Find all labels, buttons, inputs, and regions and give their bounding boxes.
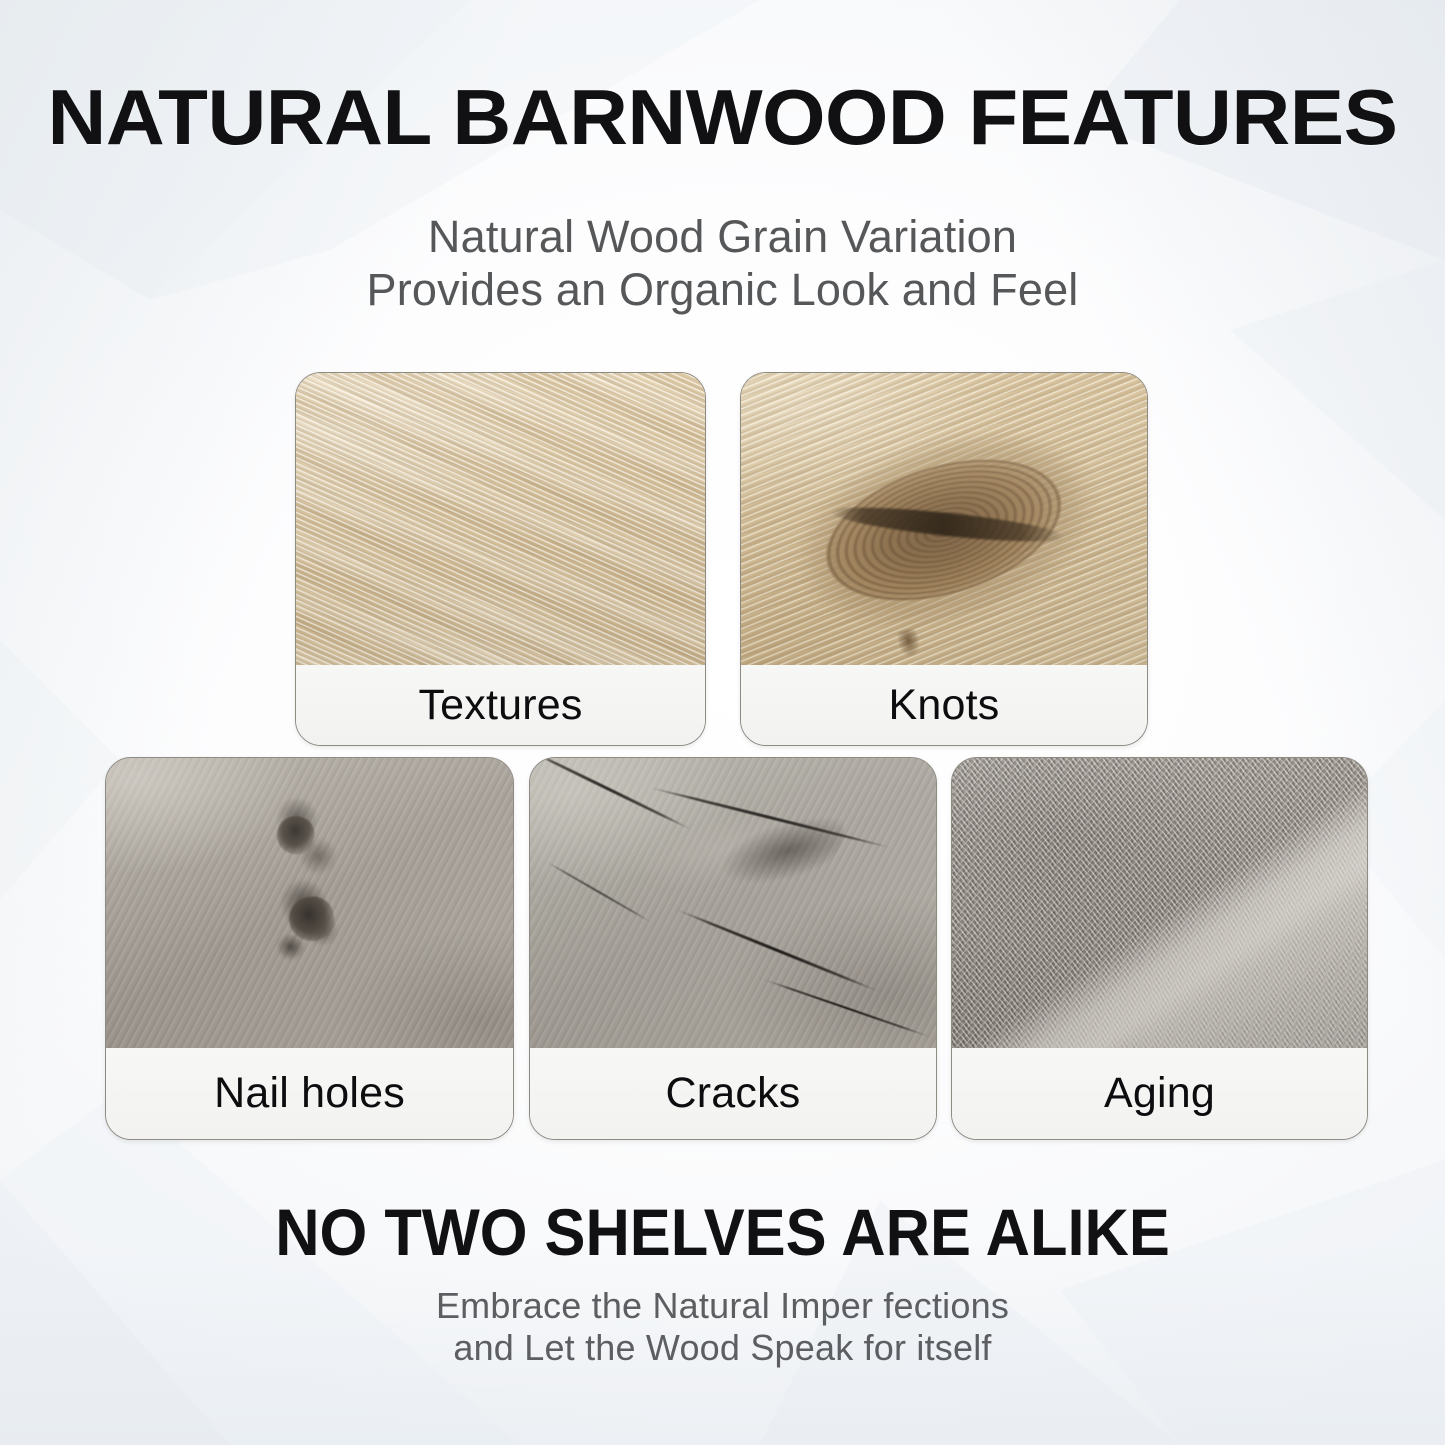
fibre-fuzz-overlay — [952, 758, 1367, 1048]
feature-card-textures[interactable]: Textures — [295, 372, 706, 746]
feature-label-cracks: Cracks — [530, 1048, 936, 1139]
wood-texture-fine-grain — [296, 373, 705, 665]
feature-card-cracks[interactable]: Cracks — [529, 757, 937, 1140]
feature-label-aging: Aging — [952, 1048, 1367, 1139]
feature-label-text: Aging — [1104, 1069, 1215, 1118]
feature-card-aging[interactable]: Aging — [951, 757, 1368, 1140]
bottom-title: NO TWO SHELVES ARE ALIKE — [51, 1194, 1395, 1270]
feature-card-knots[interactable]: Knots — [740, 372, 1148, 746]
page-title: NATURAL BARNWOOD FEATURES — [0, 72, 1445, 163]
feature-image-cracks — [530, 758, 936, 1048]
top-subtitle: Natural Wood Grain Variation Provides an… — [0, 210, 1445, 316]
feature-image-nail-holes — [106, 758, 513, 1048]
top-subtitle-line-2: Provides an Organic Look and Feel — [0, 263, 1445, 316]
feature-label-text: Nail holes — [214, 1069, 405, 1118]
feature-card-nail-holes[interactable]: Nail holes — [105, 757, 514, 1140]
bottom-subtitle: Embrace the Natural Imper fections and L… — [0, 1285, 1445, 1370]
feature-label-text: Cracks — [666, 1069, 801, 1118]
top-subtitle-line-1: Natural Wood Grain Variation — [0, 210, 1445, 263]
barnwood-features-infographic: NATURAL BARNWOOD FEATURES Natural Wood G… — [0, 0, 1445, 1445]
feature-label-nail-holes: Nail holes — [106, 1048, 513, 1139]
feature-label-text: Knots — [889, 681, 1000, 730]
bottom-subtitle-line-1: Embrace the Natural Imper fections — [0, 1285, 1445, 1327]
feature-image-textures — [296, 373, 705, 665]
bottom-subtitle-line-2: and Let the Wood Speak for itself — [0, 1327, 1445, 1369]
feature-label-knots: Knots — [741, 665, 1147, 745]
feature-label-textures: Textures — [296, 665, 705, 745]
feature-image-knots — [741, 373, 1147, 665]
feature-image-aging — [952, 758, 1367, 1048]
feature-label-text: Textures — [418, 681, 582, 730]
